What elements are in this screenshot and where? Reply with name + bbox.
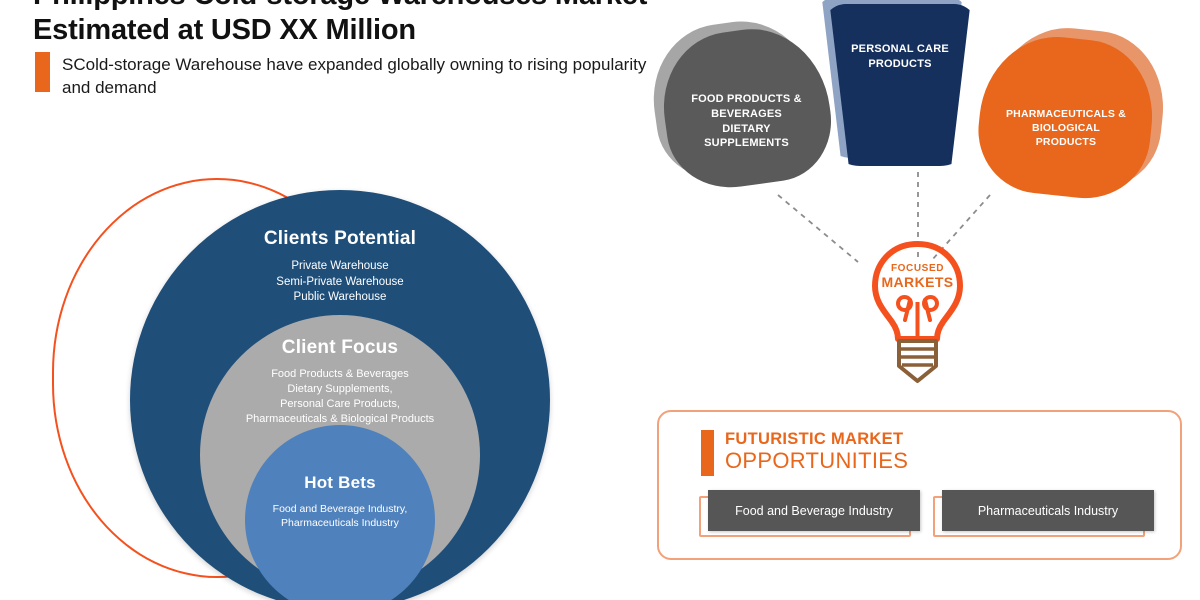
panel-heading-line2: OPPORTUNITIES (725, 449, 908, 472)
panel-heading-block: FUTURISTIC MARKET OPPORTUNITIES (701, 430, 908, 476)
panel-heading-line1: FUTURISTIC MARKET (725, 430, 908, 448)
dashed-connector-lines (640, 150, 1060, 290)
page-title: Philippines Cold-storage Warehouses Mark… (33, 0, 673, 49)
circle-outer-title: Clients Potential (264, 228, 416, 250)
circle-outer-body: Private WarehouseSemi-Private WarehouseP… (276, 259, 403, 306)
bulb-label-line2: MARKETS (855, 275, 980, 290)
bulb-label: FOCUSED MARKETS (855, 264, 980, 289)
chip-item[interactable]: Pharmaceuticals Industry (933, 490, 1145, 537)
infographic-canvas: Philippines Cold-storage Warehouses Mark… (0, 0, 1200, 600)
panel-accent-bar-icon (701, 430, 714, 476)
card-personal-care-label: PERSONAL CAREPRODUCTS (820, 4, 980, 166)
chip-food-and-beverage-industry[interactable]: Food and Beverage Industry (708, 490, 920, 531)
circle-middle-title: Client Focus (282, 337, 398, 359)
circle-middle-body: Food Products & BeveragesDietary Supplem… (246, 367, 434, 426)
bulb-label-line1: FOCUSED (855, 264, 980, 275)
circle-inner-body: Food and Beverage Industry,Pharmaceutica… (273, 502, 408, 530)
subtitle-text: SCold-storage Warehouse have expanded gl… (62, 52, 665, 100)
subtitle-block: SCold-storage Warehouse have expanded gl… (35, 52, 665, 100)
futuristic-opportunities-panel: FUTURISTIC MARKET OPPORTUNITIES Food and… (657, 410, 1182, 560)
card-personal-care[interactable]: PERSONAL CAREPRODUCTS (820, 4, 980, 166)
opportunity-chip-list: Food and Beverage Industry Pharmaceutica… (699, 490, 1145, 537)
circle-hot-bets: Hot Bets Food and Beverage Industry,Phar… (245, 425, 435, 600)
accent-bar-icon (35, 52, 50, 92)
lightbulb-icon: FOCUSED MARKETS (855, 238, 980, 388)
concentric-circles-diagram: Clients Potential Private WarehouseSemi-… (40, 170, 610, 600)
chip-item[interactable]: Food and Beverage Industry (699, 490, 911, 537)
chip-pharmaceuticals-industry[interactable]: Pharmaceuticals Industry (942, 490, 1154, 531)
circle-inner-title: Hot Bets (304, 473, 376, 493)
